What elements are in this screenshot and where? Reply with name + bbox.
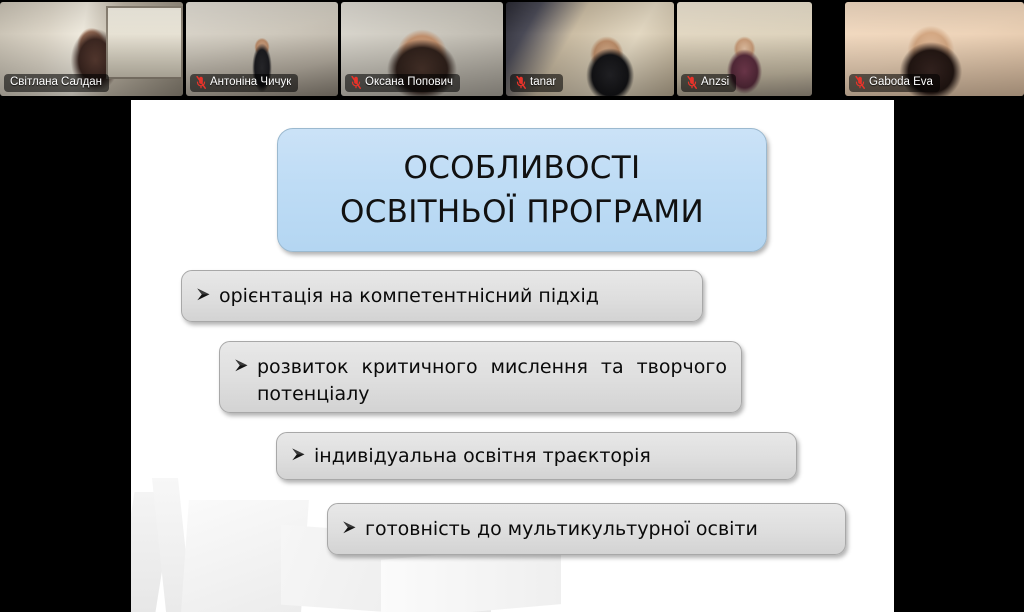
slide-bullet-box-1: орієнтація на компетентнісний підхід [181, 270, 703, 322]
participant-video-filmstrip: Світлана СалданАнтоніна ЧичукОксана Попо… [0, 0, 1024, 98]
mic-muted-icon [196, 76, 206, 89]
slide-bullet-box-2: розвиток критичного мислення та творчого… [219, 341, 742, 413]
participant-name-label: Світлана Салдан [10, 76, 102, 89]
slide-bullet-box-3: індивідуальна освітня траєкторія [276, 432, 797, 480]
participant-name-badge: Gaboda Eva [849, 74, 940, 92]
participant-tile[interactable]: Антоніна Чичук [186, 2, 338, 96]
participant-name-label: tanar [530, 76, 556, 89]
slide-bullet-box-4: готовність до мультикультурної освіти [327, 503, 846, 555]
arrow-bullet-icon [290, 446, 307, 463]
participant-name-badge: Антоніна Чичук [190, 74, 298, 92]
participant-name-label: Anzsi [701, 76, 729, 89]
slide-title-box: ОСОБЛИВОСТІ ОСВІТНЬОЇ ПРОГРАМИ [277, 128, 767, 252]
participant-name-label: Gaboda Eva [869, 76, 933, 89]
participant-tile[interactable]: tanar [506, 2, 674, 96]
participant-name-badge: Оксана Попович [345, 74, 460, 92]
arrow-bullet-icon [341, 519, 358, 536]
slide-bullet-text-1: орієнтація на компетентнісний підхід [219, 283, 599, 310]
shared-slide-content: ОСОБЛИВОСТІ ОСВІТНЬОЇ ПРОГРАМИ орієнтаці… [131, 100, 894, 612]
zoom-screen-share-window: Світлана СалданАнтоніна ЧичукОксана Попо… [0, 0, 1024, 612]
slide-bullet-text-2: розвиток критичного мислення та творчого… [257, 354, 727, 408]
participant-name-badge: Світлана Салдан [4, 74, 109, 92]
participant-name-label: Антоніна Чичук [210, 76, 291, 89]
participant-name-badge: Anzsi [681, 74, 736, 92]
participant-tile[interactable]: Світлана Салдан [0, 2, 183, 96]
participant-name-badge: tanar [510, 74, 563, 92]
mic-muted-icon [351, 76, 361, 89]
mic-muted-icon [516, 76, 526, 89]
slide-bullet-text-3: індивідуальна освітня траєкторія [314, 443, 651, 470]
participant-tile[interactable]: Gaboda Eva [845, 2, 1024, 96]
arrow-bullet-icon [195, 286, 212, 303]
mic-muted-icon [855, 76, 865, 89]
participant-tile[interactable]: Оксана Попович [341, 2, 503, 96]
slide-title-text: ОСОБЛИВОСТІ ОСВІТНЬОЇ ПРОГРАМИ [340, 146, 704, 234]
slide-bullet-text-4: готовність до мультикультурної освіти [365, 516, 758, 543]
arrow-bullet-icon [233, 357, 250, 374]
participant-tile[interactable]: Anzsi [677, 2, 812, 96]
participant-name-label: Оксана Попович [365, 76, 453, 89]
mic-muted-icon [687, 76, 697, 89]
